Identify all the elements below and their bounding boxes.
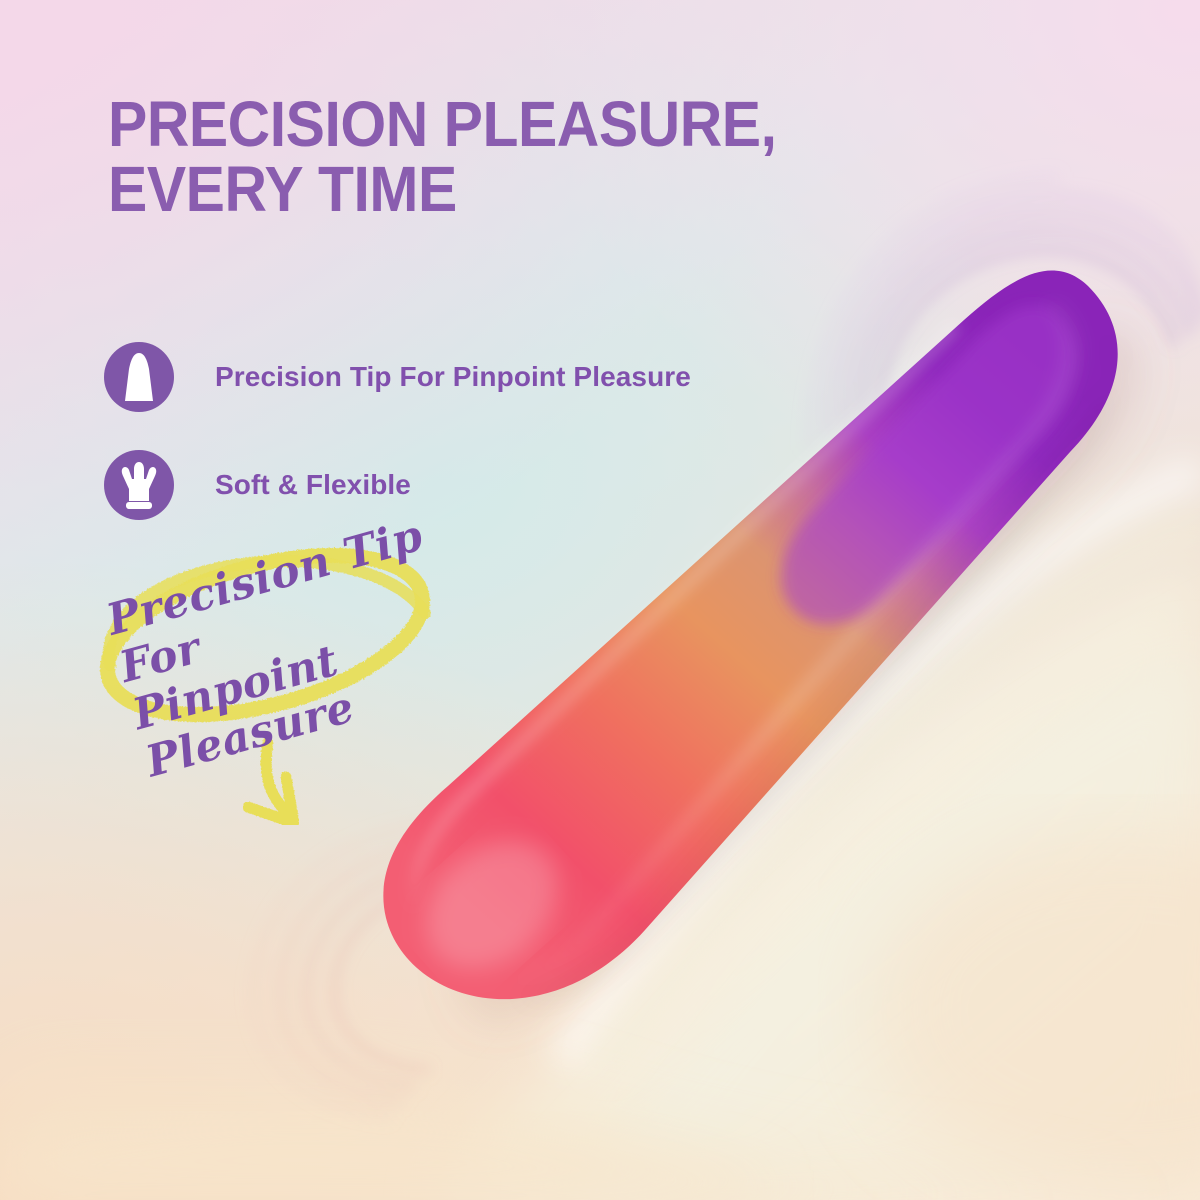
precision-tip-icon (117, 351, 161, 403)
product-marketing-banner: PRECISION PLEASURE, EVERY TIME Precision… (0, 0, 1200, 1200)
handwritten-callout: Precision Tip For Pinpoint Pleasure (80, 525, 510, 825)
feature-row-precision-tip: Precision Tip For Pinpoint Pleasure (104, 336, 691, 418)
feature-icon-circle (104, 342, 174, 412)
feature-label: Soft & Flexible (215, 469, 411, 501)
feature-label: Precision Tip For Pinpoint Pleasure (215, 361, 691, 393)
feature-row-soft-flexible: Soft & Flexible (104, 444, 691, 526)
feature-icon-circle (104, 450, 174, 520)
page-title: PRECISION PLEASURE, EVERY TIME (108, 92, 1010, 223)
flexible-tip-icon (116, 459, 162, 511)
